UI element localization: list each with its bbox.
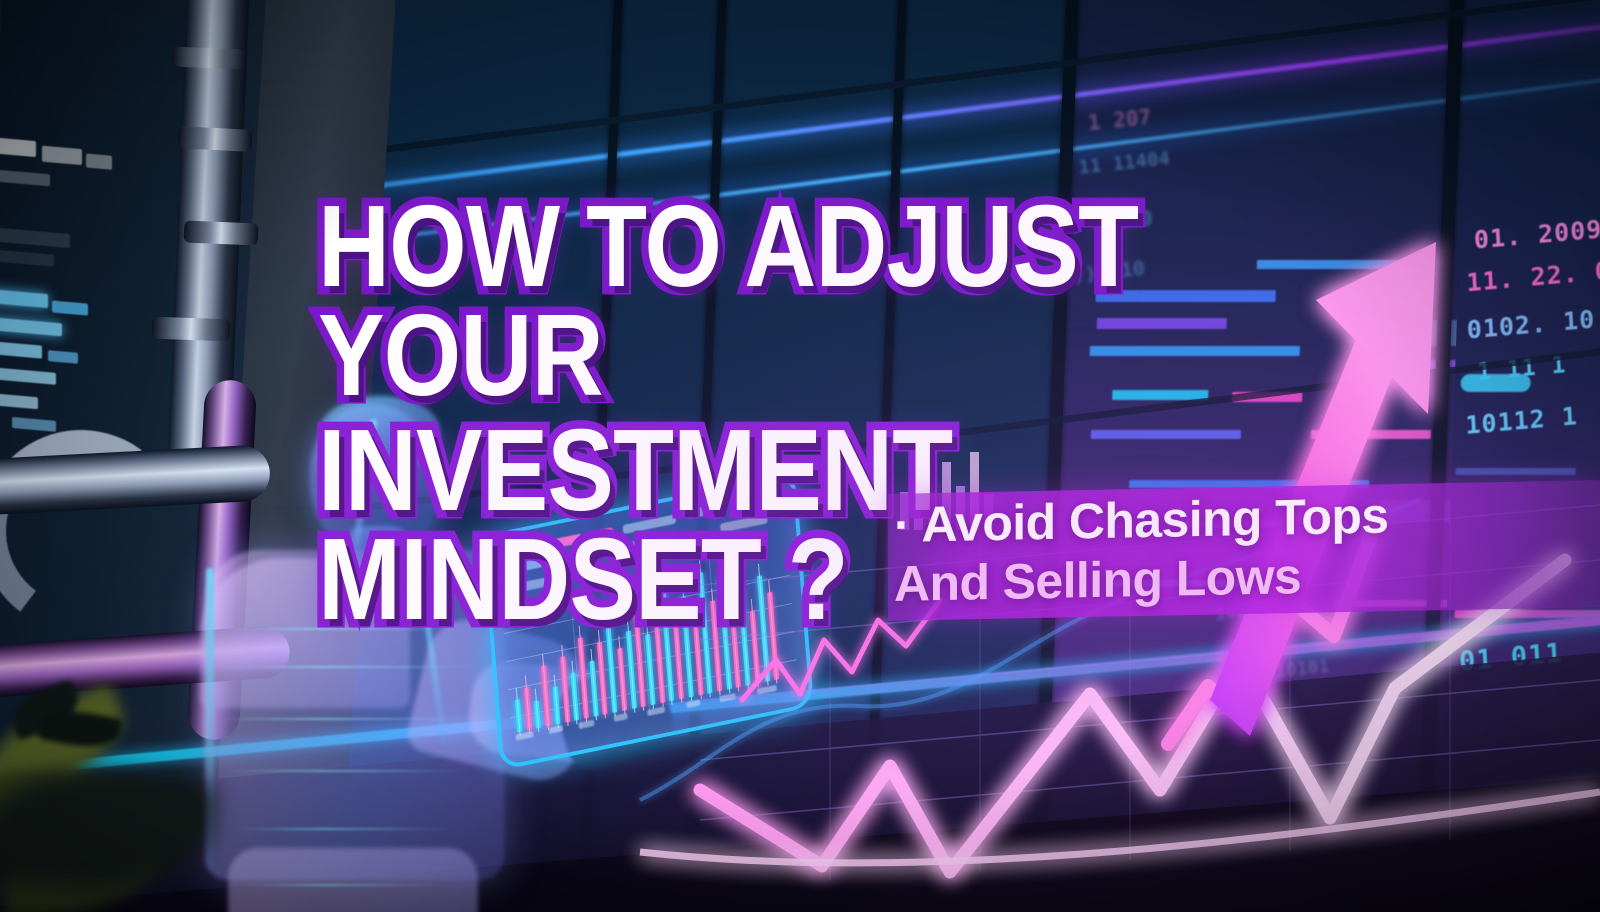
binary-line: 10112 1 bbox=[1465, 401, 1579, 440]
pipe-collar bbox=[177, 126, 252, 152]
subtitle-line-1-text: Avoid Chasing Tops bbox=[922, 487, 1389, 552]
bullet-marker: · bbox=[894, 497, 910, 553]
title-line-1: HOW TO ADJUST YOUR bbox=[318, 192, 1144, 410]
pipe-collar bbox=[184, 220, 259, 245]
poster-canvas: 1 207 11 11404 0 00120 0)) 110 1000011 1… bbox=[0, 0, 1600, 912]
pipe-collar bbox=[172, 46, 247, 69]
binary-line: 11. 22. 0 bbox=[1466, 256, 1600, 297]
pipe-collar bbox=[152, 317, 231, 342]
subtitle-text: · Avoid Chasing Tops And Selling Lows bbox=[894, 482, 1600, 614]
binary-line: 01. 2009 bbox=[1473, 214, 1600, 254]
potted-plant bbox=[10, 690, 150, 810]
screen-code-text: 1 207 bbox=[1087, 105, 1152, 135]
binary-line: 0102. 10 bbox=[1466, 304, 1596, 344]
